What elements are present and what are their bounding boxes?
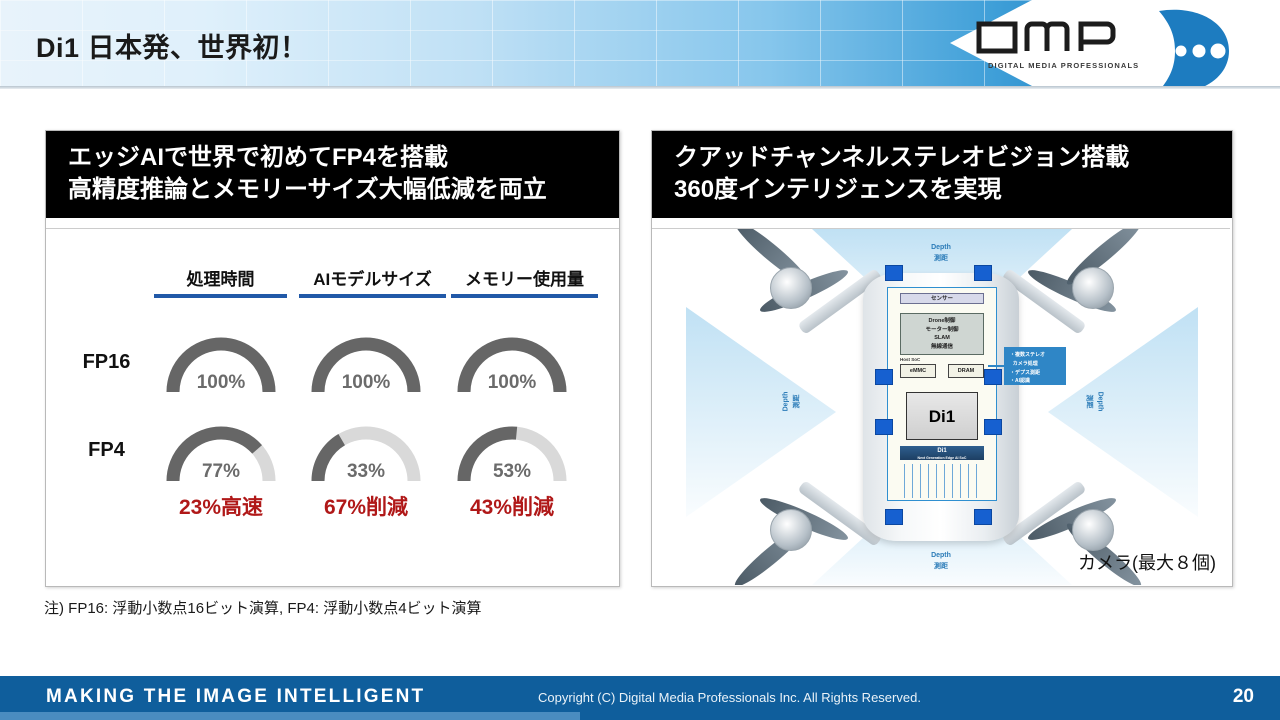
motor-top-left [770, 267, 812, 309]
motor-bottom-right [1072, 509, 1114, 551]
left-panel-heading-line2: 高精度推論とメモリーサイズ大幅低減を両立 [68, 174, 619, 206]
column-header-label: メモリー使用量 [451, 265, 598, 290]
motor-top-right [1072, 267, 1114, 309]
row-label-fp16: FP16 [64, 351, 149, 374]
right-panel: クアッドチャンネルステレオビジョン搭載 360度インテリジェンスを実現 Dept… [651, 130, 1233, 587]
camera-caption: カメラ(最大８個) [1078, 549, 1216, 575]
schematic-di1-chip: Di1 [906, 392, 978, 440]
depth-label-bottom: Depth測距 [901, 551, 981, 572]
column-header-underline [299, 294, 446, 298]
camera-marker-7 [885, 509, 903, 525]
camera-marker-4 [984, 369, 1002, 385]
delta-memory-usage: 43%削減 [450, 491, 574, 521]
slide-root: DIGITAL MEDIA PROFESSIONALS Di1 日本発、世界初！… [0, 0, 1280, 720]
left-panel-heading-line1: エッジAIで世界で初めてFP4を搭載 [68, 142, 619, 174]
drone-diagram: Depth測距 Depth測距 Depth測距 Depth測距 [652, 228, 1230, 585]
slide-header: DIGITAL MEDIA PROFESSIONALS Di1 日本発、世界初！ [0, 0, 1280, 88]
comparison-chart: 処理時間 AIモデルサイズ メモリー使用量 FP16 FP4 100% [46, 228, 619, 586]
schematic-host-label: Host SoC [900, 357, 920, 362]
left-panel: エッジAIで世界で初めてFP4を搭載 高精度推論とメモリーサイズ大幅低減を両立 … [45, 130, 620, 587]
page-title: Di1 日本発、世界初！ [36, 26, 308, 65]
column-header-memory-usage: メモリー使用量 [451, 265, 598, 298]
column-header-model-size: AIモデルサイズ [299, 265, 446, 298]
gauge-value: 100% [304, 372, 428, 394]
di1-feature-callout: ・複数ステレオ カメラ処理・デプス測距・AI認識 [1004, 347, 1066, 385]
dmp-speech-bubble-icon [1135, 7, 1231, 88]
left-panel-heading: エッジAIで世界で初めてFP4を搭載 高精度推論とメモリーサイズ大幅低減を両立 [46, 131, 619, 218]
schematic-bus-lines [904, 464, 980, 498]
schematic-emmc-block: eMMC [900, 364, 936, 378]
gauge-fp4-memory-usage: 53% [450, 413, 574, 485]
footer-accent-bar [0, 712, 580, 720]
camera-marker-6 [984, 419, 1002, 435]
right-panel-heading-line1: クアッドチャンネルステレオビジョン搭載 [674, 142, 1232, 174]
dmp-logo-subtitle: DIGITAL MEDIA PROFESSIONALS [988, 61, 1139, 70]
schematic-dram-block: DRAM [948, 364, 984, 378]
camera-marker-1 [885, 265, 903, 281]
gauge-value: 53% [450, 461, 574, 483]
header-divider [0, 86, 1280, 89]
camera-marker-2 [974, 265, 992, 281]
column-header-label: 処理時間 [154, 265, 287, 290]
camera-marker-5 [875, 419, 893, 435]
motor-bottom-left [770, 509, 812, 551]
depth-label-right: Depth測距 [1084, 380, 1105, 424]
column-header-underline [451, 294, 598, 298]
page-number: 20 [1233, 686, 1254, 708]
di1-schematic: センサー Drone制御モーター制御SLAM無線通信 Host SoC eMMC… [887, 287, 997, 501]
depth-label-left: Depth測距 [782, 380, 803, 424]
slide-footer: MAKING THE IMAGE INTELLIGENT Copyright (… [0, 676, 1280, 720]
gauge-fp16-model-size: 100% [304, 324, 428, 396]
dmp-logo: DIGITAL MEDIA PROFESSIONALS [975, 16, 1225, 78]
schematic-di1-strip: Di1Next Generation Edge AI SoC [900, 446, 984, 460]
delta-processing-time: 23%高速 [159, 491, 283, 521]
footer-copyright: Copyright (C) Digital Media Professional… [538, 690, 921, 705]
gauge-value: 77% [159, 461, 283, 483]
gauge-fp4-processing-time: 77% [159, 413, 283, 485]
camera-marker-3 [875, 369, 893, 385]
right-panel-heading-line2: 360度インテリジェンスを実現 [674, 174, 1232, 206]
column-header-underline [154, 294, 287, 298]
gauge-fp16-memory-usage: 100% [450, 324, 574, 396]
depth-label-top: Depth測距 [901, 243, 981, 264]
column-header-label: AIモデルサイズ [299, 265, 446, 290]
gauge-value: 33% [304, 461, 428, 483]
schematic-host-block: Drone制御モーター制御SLAM無線通信 [900, 313, 984, 355]
row-label-fp4: FP4 [64, 439, 149, 462]
gauge-fp16-processing-time: 100% [159, 324, 283, 396]
dmp-wordmark-icon [975, 18, 1145, 56]
schematic-sensor-block: センサー [900, 293, 984, 304]
footer-slogan: MAKING THE IMAGE INTELLIGENT [46, 686, 425, 708]
gauge-value: 100% [159, 372, 283, 394]
gauge-fp4-model-size: 33% [304, 413, 428, 485]
right-panel-heading: クアッドチャンネルステレオビジョン搭載 360度インテリジェンスを実現 [652, 131, 1232, 218]
column-header-processing-time: 処理時間 [154, 265, 287, 298]
gauge-value: 100% [450, 372, 574, 394]
footnote: 注) FP16: 浮動小数点16ビット演算, FP4: 浮動小数点4ビット演算 [44, 597, 482, 618]
camera-marker-8 [974, 509, 992, 525]
delta-model-size: 67%削減 [304, 491, 428, 521]
